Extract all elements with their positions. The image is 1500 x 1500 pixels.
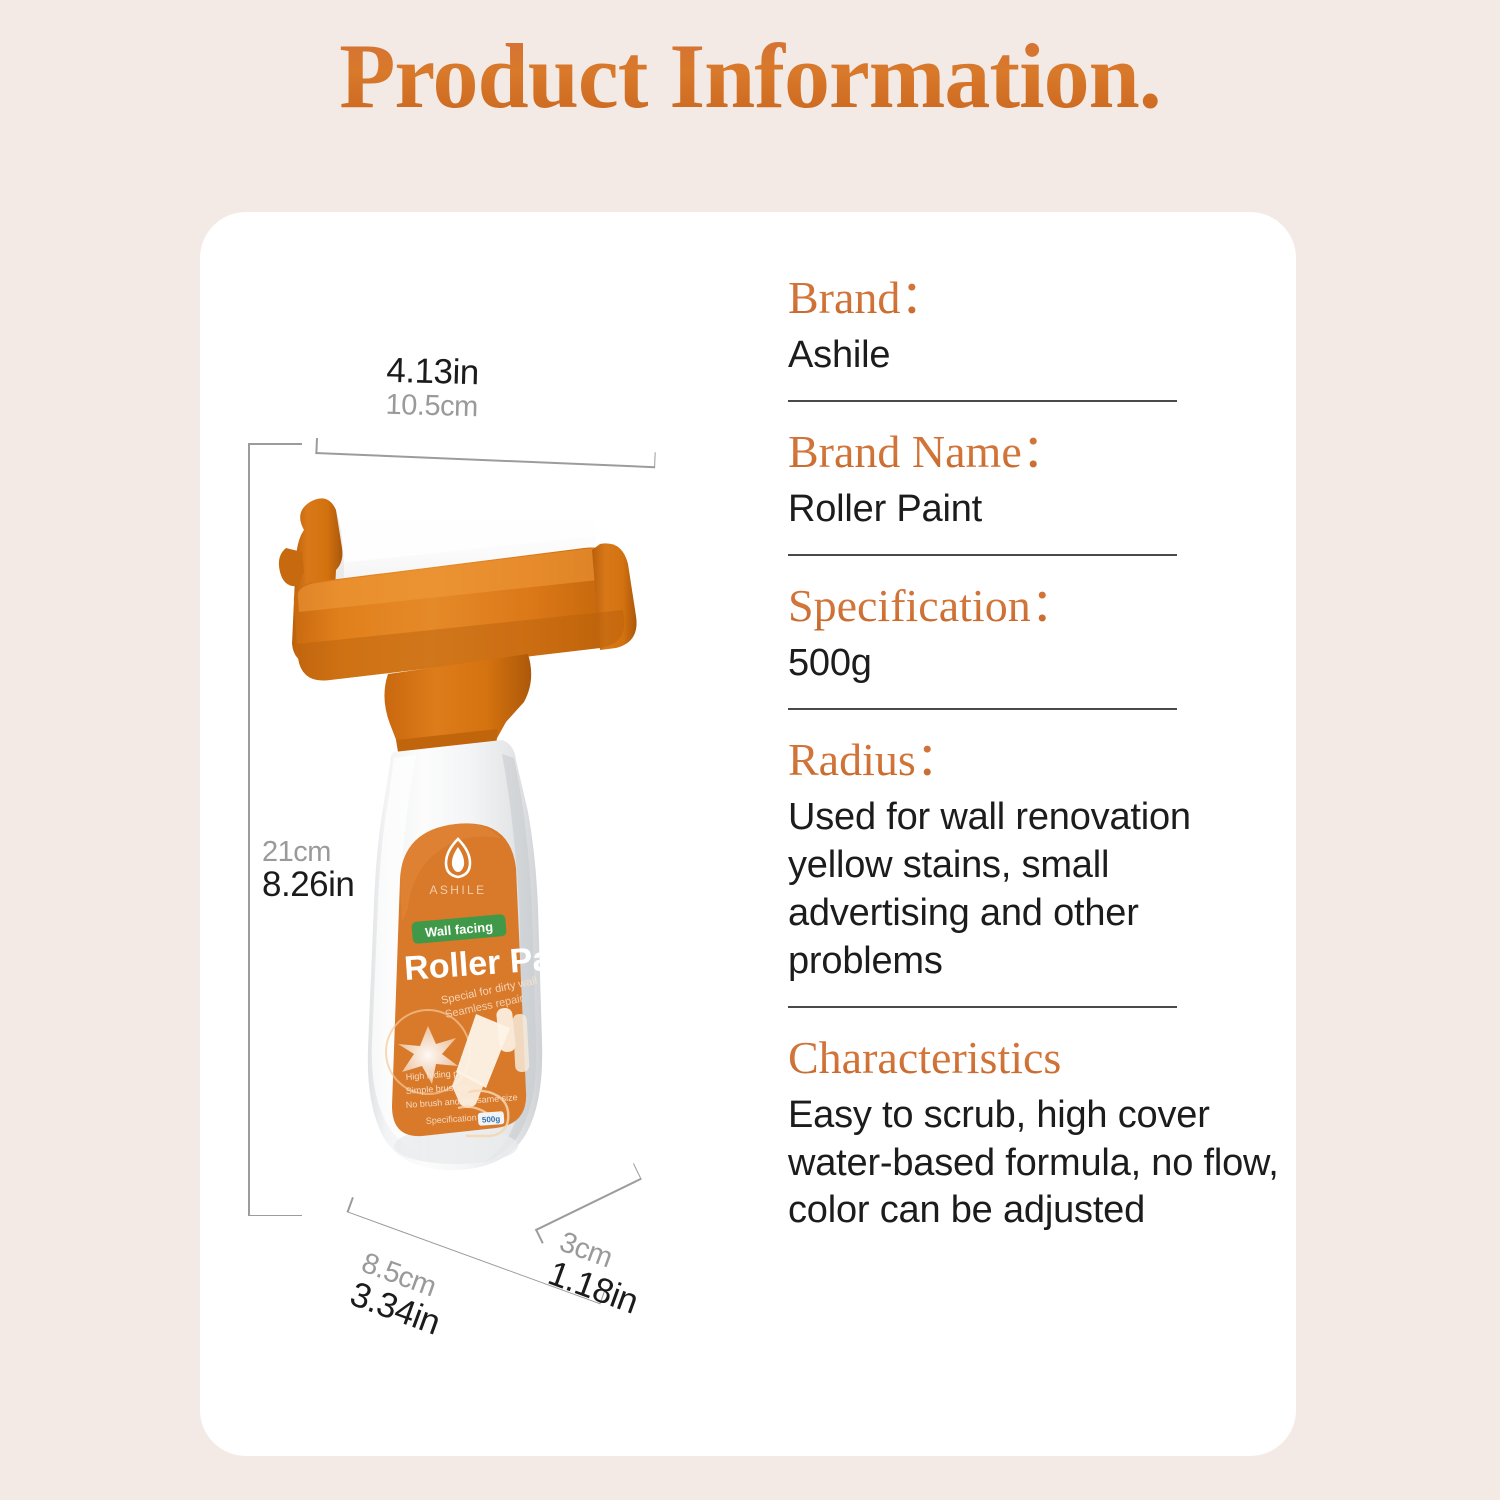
bottle-label: ASHILE Wall facing Roller Paint Special …	[386, 823, 594, 1136]
dimension-label-depth-bottom-right: 3cm 1.18in	[543, 1227, 653, 1322]
bracket-bar	[248, 443, 250, 1216]
spec-value-radius: Used for wall renovation yellow stains, …	[788, 794, 1288, 986]
bracket-cap-top	[248, 443, 302, 445]
weight-badge: 500g	[478, 1111, 505, 1126]
bracket-bar	[315, 452, 655, 468]
product-svg: ASHILE Wall facing Roller Paint Special …	[270, 452, 650, 1212]
spec-divider	[788, 1006, 1177, 1008]
product-illustration-figure: ASHILE Wall facing Roller Paint Special …	[200, 212, 700, 1456]
product-info-card: ASHILE Wall facing Roller Paint Special …	[200, 212, 1296, 1456]
dimension-label-height-left: 21cm 8.26in	[262, 837, 354, 904]
spec-row-brand-name: Brand Name： Roller Paint	[788, 424, 1208, 534]
dimension-value-centimeters: 10.5cm	[385, 390, 478, 423]
spec-row-radius: Radius： Used for wall renovation yellow …	[788, 732, 1208, 986]
page-title: Product Information.	[0, 26, 1500, 127]
spec-value-characteristics: Easy to scrub, high cover water-based fo…	[788, 1092, 1288, 1236]
spec-label-brand-name: Brand Name：	[788, 424, 1208, 480]
spec-label-brand: Brand：	[788, 270, 1208, 326]
dimension-bracket-height-left	[248, 443, 302, 1216]
dimension-value-inches: 4.13in	[386, 353, 479, 392]
bracket-cap-left	[535, 1229, 543, 1244]
spec-row-characteristics: Characteristics Easy to scrub, high cove…	[788, 1030, 1208, 1236]
weight-badge-text: 500g	[482, 1114, 501, 1124]
spec-row-specification: Specification： 500g	[788, 578, 1208, 688]
roller-paint-product-image: ASHILE Wall facing Roller Paint Special …	[270, 452, 650, 1212]
bracket-cap-right	[654, 452, 656, 468]
spec-value-brand-name: Roller Paint	[788, 486, 1208, 534]
dimension-label-depth-bottom-left: 8.5cm 3.34in	[345, 1248, 455, 1343]
bracket-cap-bottom	[248, 1215, 302, 1217]
spec-value-specification: 500g	[788, 640, 1208, 688]
spec-label-radius: Radius：	[788, 732, 1208, 788]
spec-row-brand: Brand： Ashile	[788, 270, 1208, 380]
bottle-brand-mark-text: ASHILE	[429, 883, 486, 897]
dimension-value-inches: 8.26in	[262, 867, 354, 904]
spec-divider	[788, 554, 1177, 556]
spec-label-characteristics: Characteristics	[788, 1030, 1208, 1086]
dimension-label-width-top: 4.13in 10.5cm	[385, 353, 479, 423]
dimension-value-centimeters: 21cm	[262, 837, 354, 867]
spec-divider	[788, 400, 1177, 402]
specification-list: Brand： Ashile Brand Name： Roller Paint S…	[788, 270, 1208, 1235]
spec-value-brand: Ashile	[788, 332, 1208, 380]
spec-label-specification: Specification：	[788, 578, 1208, 634]
spec-divider	[788, 708, 1177, 710]
